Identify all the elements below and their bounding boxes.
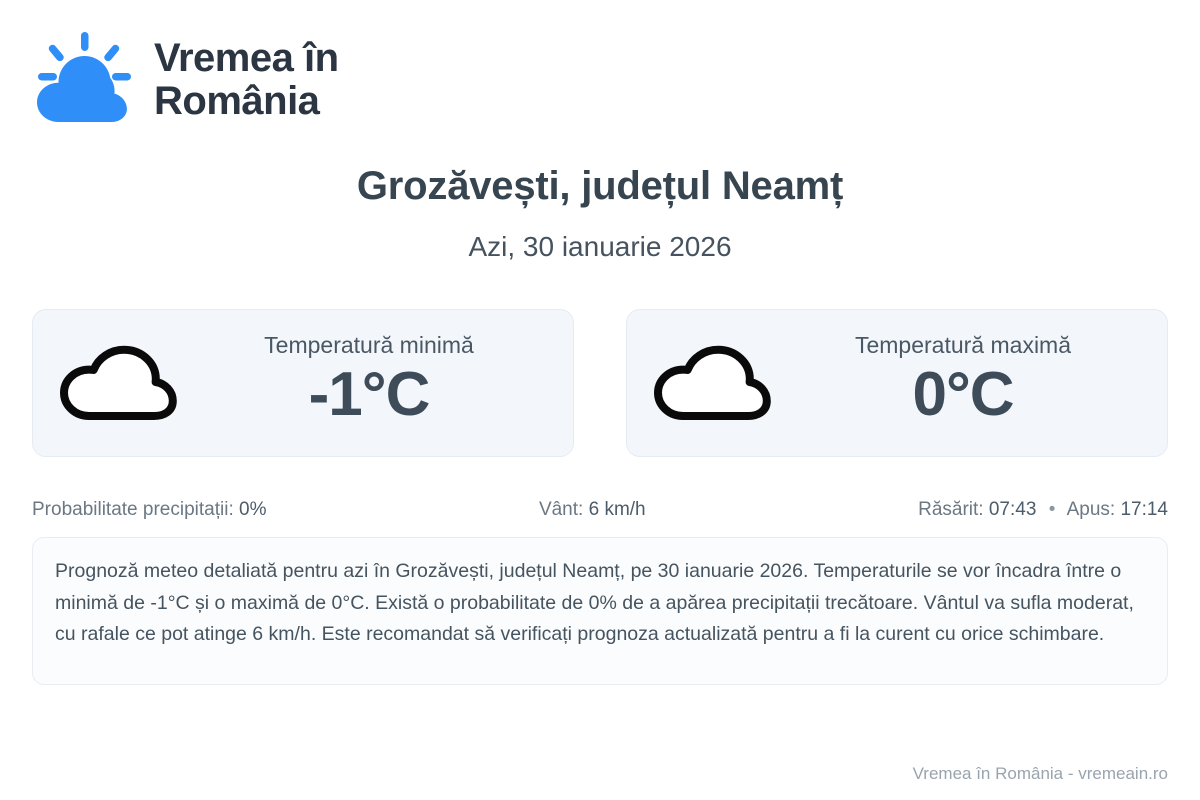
forecast-description-text: Prognoză meteo detaliată pentru azi în G… (55, 556, 1145, 651)
min-temperature-card: Temperatură minimă -1°C (32, 309, 574, 457)
brand-name: Vremea în România (154, 37, 339, 123)
weather-page: Vremea în România Grozăvești, județul Ne… (0, 0, 1200, 800)
wind-label: Vânt: (539, 499, 583, 520)
min-temperature-label: Temperatură minimă (264, 333, 474, 358)
footer-credit: Vremea în România - vremeain.ro (913, 764, 1168, 784)
precipitation-label: Probabilitate precipitații: (32, 499, 234, 520)
min-temperature-value: -1°C (309, 360, 430, 429)
min-temperature-body: Temperatură minimă -1°C (187, 333, 551, 430)
cloud-icon (55, 337, 187, 429)
forecast-description-box: Prognoză meteo detaliată pentru azi în G… (32, 537, 1168, 685)
sunrise-value: 07:43 (989, 499, 1037, 520)
sun-times-stat: Răsărit: 07:43 • Apus: 17:14 (918, 499, 1168, 521)
sunset-label: Apus: (1067, 499, 1116, 520)
cloud-icon (649, 337, 781, 429)
max-temperature-label: Temperatură maximă (855, 333, 1071, 358)
wind-value: 6 km/h (589, 499, 646, 520)
separator-dot: • (1042, 499, 1063, 520)
sunrise-label: Răsărit: (918, 499, 983, 520)
page-subtitle: Azi, 30 ianuarie 2026 (32, 231, 1168, 263)
sunset-value: 17:14 (1120, 499, 1168, 520)
sun-behind-cloud-icon (32, 30, 136, 130)
max-temperature-body: Temperatură maximă 0°C (781, 333, 1145, 430)
max-temperature-value: 0°C (912, 360, 1013, 429)
brand-header[interactable]: Vremea în România (32, 0, 1168, 112)
precipitation-value: 0% (239, 499, 266, 520)
precipitation-stat: Probabilitate precipitații: 0% (32, 499, 266, 521)
max-temperature-card: Temperatură maximă 0°C (626, 309, 1168, 457)
wind-stat: Vânt: 6 km/h (266, 499, 918, 521)
page-title: Grozăvești, județul Neamț (32, 164, 1168, 209)
stats-row: Probabilitate precipitații: 0% Vânt: 6 k… (32, 499, 1168, 521)
temperature-cards: Temperatură minimă -1°C Temperatură maxi… (32, 309, 1168, 457)
